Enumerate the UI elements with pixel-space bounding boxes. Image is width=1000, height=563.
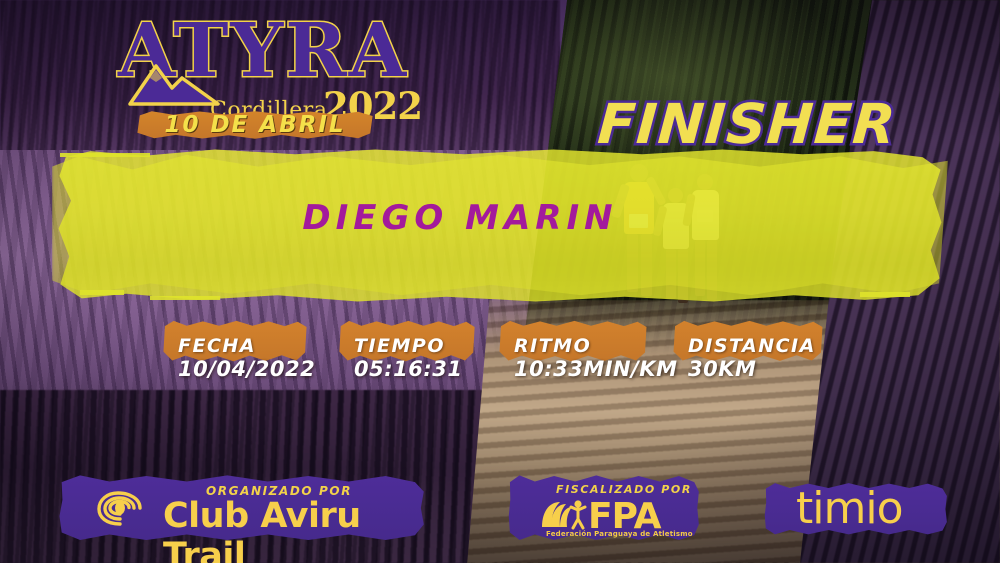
stat-value: 10/04/2022: [178, 357, 315, 381]
finisher-label: FINISHER: [596, 92, 899, 156]
fpa-kicker: FISCALIZADO POR: [556, 483, 692, 496]
mountain-icon: [126, 58, 222, 106]
fpa-runner-icon: [540, 498, 590, 530]
stat-fecha: FECHA 10/04/2022: [162, 320, 308, 390]
stat-value: 30KM: [688, 357, 756, 381]
stat-label: TIEMPO: [354, 335, 445, 357]
sponsor-timio: timio: [764, 482, 948, 536]
brush-speck: [60, 153, 150, 157]
stat-value: 05:16:31: [354, 357, 462, 381]
stat-ritmo: RITMO 10:33MIN/KM: [498, 320, 648, 390]
brush-speck: [860, 292, 910, 297]
stat-distancia: DISTANCIA 30KM: [672, 320, 824, 390]
stats-row: FECHA 10/04/2022 TIEMPO 05:16:31 RITMO 1…: [0, 320, 1000, 390]
stat-tiempo: TIEMPO 05:16:31: [338, 320, 476, 390]
sponsor-organizer: ORGANIZADO POR Club Aviru Trail: [58, 474, 426, 542]
date-ribbon-text: 10 DE ABRIL: [135, 112, 375, 138]
stat-label: RITMO: [514, 335, 591, 357]
stat-value: 10:33MIN/KM: [514, 357, 677, 381]
finisher-certificate-card: ATYRA Cordillera 2022 10 DE ABRIL FINISH…: [0, 0, 1000, 563]
fpa-full-name: Federación Paraguaya de Atletismo: [546, 530, 693, 538]
stat-label: DISTANCIA: [688, 335, 816, 357]
brush-speck: [80, 290, 124, 295]
organizer-name: Club Aviru Trail: [163, 496, 426, 563]
brush-speck: [150, 296, 220, 300]
athlete-name: DIEGO MARIN: [0, 198, 960, 238]
spiral-icon: [92, 487, 148, 531]
timio-name: timio: [796, 483, 902, 534]
sponsor-fpa: FISCALIZADO POR FPA Federación Paraguaya…: [508, 474, 700, 542]
stat-label: FECHA: [178, 335, 256, 357]
